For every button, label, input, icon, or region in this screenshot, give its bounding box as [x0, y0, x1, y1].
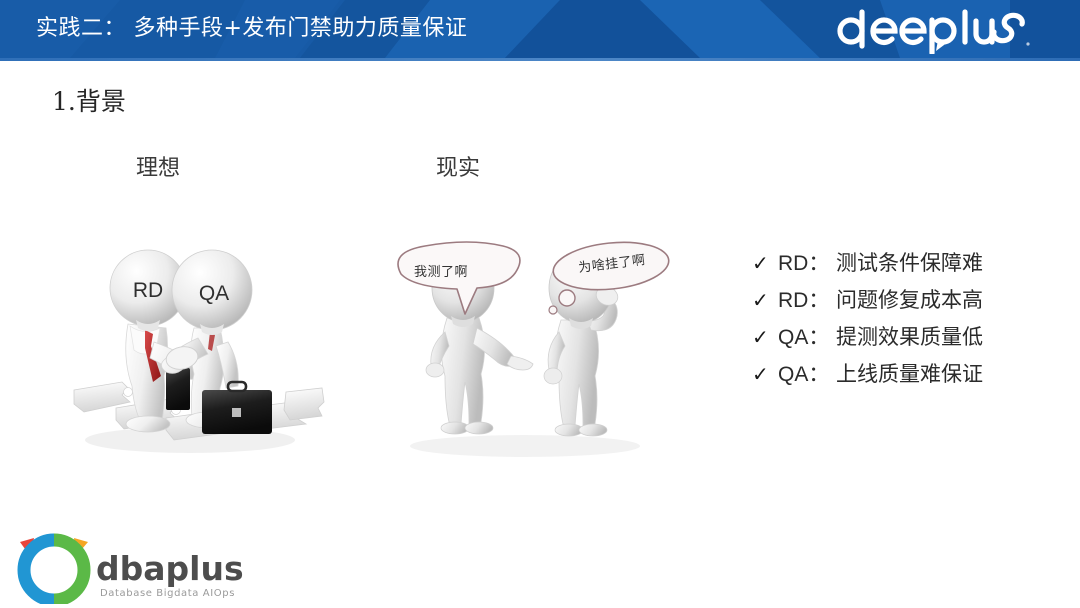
bullet-text: 问题修复成本高 — [836, 284, 983, 314]
header-underline — [0, 58, 1080, 61]
bullet-role: RD： — [778, 284, 836, 314]
figure-label-qa: QA — [199, 282, 229, 305]
check-icon: ✓ — [752, 362, 778, 386]
slide-canvas: 实践二： 多种手段+发布门禁助力质量保证 — [0, 0, 1080, 608]
problem-bullet-list: ✓ RD： 测试条件保障难 ✓ RD： 问题修复成本高 ✓ QA： 提测效果质量… — [752, 247, 1052, 395]
bullet-role: RD： — [778, 247, 836, 277]
bullet-role: QA： — [778, 358, 836, 388]
list-item: ✓ RD： 测试条件保障难 — [752, 247, 1052, 284]
dbaplus-wordmark: dbaplus — [96, 549, 244, 588]
bullet-role: QA： — [778, 321, 836, 351]
slide-header: 实践二： 多种手段+发布门禁助力质量保证 — [0, 0, 1080, 58]
column-label-ideal: 理想 — [136, 150, 180, 182]
illustration-ideal-handshake: RD QA — [70, 232, 325, 462]
list-item: ✓ QA： 提测效果质量低 — [752, 321, 1052, 358]
dbaplus-logo: dbaplus Database Bigdata AIOps — [8, 524, 248, 604]
list-item: ✓ RD： 问题修复成本高 — [752, 284, 1052, 321]
page-title: 实践二： 多种手段+发布门禁助力质量保证 — [36, 0, 467, 58]
figure-label-rd: RD — [133, 279, 163, 302]
check-icon: ✓ — [752, 288, 778, 312]
deeplus-logo — [832, 6, 1062, 58]
bullet-text: 提测效果质量低 — [836, 321, 983, 351]
speech-bubble-text-1: 我测了啊 — [414, 261, 468, 280]
list-item: ✓ QA： 上线质量难保证 — [752, 358, 1052, 395]
bullet-text: 测试条件保障难 — [836, 247, 983, 277]
check-icon: ✓ — [752, 251, 778, 275]
column-label-reality: 现实 — [436, 150, 480, 182]
section-heading: 1.背景 — [52, 82, 126, 118]
dbaplus-tagline: Database Bigdata AIOps — [100, 588, 235, 599]
bullet-text: 上线质量难保证 — [836, 358, 983, 388]
check-icon: ✓ — [752, 325, 778, 349]
